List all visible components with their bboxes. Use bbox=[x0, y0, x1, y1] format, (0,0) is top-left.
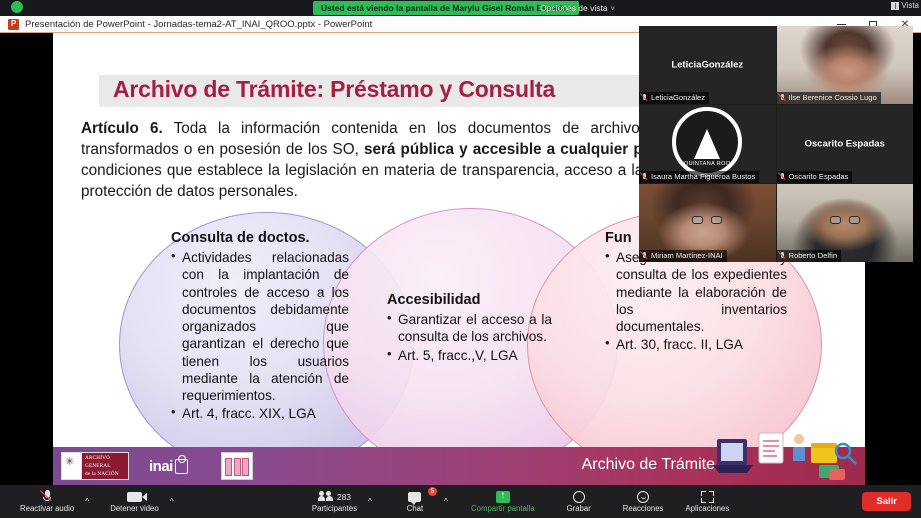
stop-video-button[interactable]: Detener video bbox=[104, 485, 165, 518]
agn-logo-text: ARCHIVO GENERAL de la NACIÓN bbox=[82, 453, 128, 479]
archive-boxes-logo bbox=[221, 452, 253, 480]
apps-button[interactable]: Aplicaciones bbox=[679, 485, 735, 518]
slide-title: Archivo de Trámite: Préstamo y Consulta bbox=[113, 76, 713, 103]
reactions-icon bbox=[637, 490, 649, 503]
participant-name-tag: Isaura Martha Figueroa Bustos bbox=[639, 171, 759, 183]
microphone-muted-icon bbox=[41, 490, 53, 503]
participant-name: Oscarito Espadas bbox=[789, 171, 849, 183]
chat-icon bbox=[408, 490, 421, 503]
mic-muted-icon bbox=[779, 173, 786, 182]
participant-name-tag: Roberto Delfin bbox=[777, 250, 842, 262]
video-tile-isaura-martha-figueroa-bustos[interactable]: QUINTANA ROO Isaura Martha Figueroa Bust… bbox=[639, 105, 776, 183]
reactions-label: Reacciones bbox=[623, 504, 664, 513]
chevron-up-icon: ^ bbox=[368, 495, 372, 508]
apps-label: Aplicaciones bbox=[685, 504, 729, 513]
list-item: Actividades relacionadas con la implanta… bbox=[171, 249, 349, 404]
slide-footer-bar: ARCHIVO GENERAL de la NACIÓN inai Archiv… bbox=[53, 447, 865, 485]
venn-bullets-consulta: Actividades relacionadas con la implanta… bbox=[171, 249, 349, 423]
participants-button[interactable]: 283 Participantes bbox=[306, 485, 363, 518]
unmute-audio-label: Reactivar audio bbox=[20, 504, 74, 513]
mic-muted-icon bbox=[779, 252, 786, 261]
chat-label: Chat bbox=[407, 504, 423, 513]
powerpoint-title: Presentación de PowerPoint - Jornadas-te… bbox=[25, 19, 372, 30]
participants-icon: 283 bbox=[318, 490, 351, 503]
glasses-detail-icon bbox=[830, 216, 860, 224]
zoom-shared-screen-view: Usted está viendo la pantalla de Marylu … bbox=[0, 0, 921, 518]
vista-indicator[interactable]: Vista bbox=[891, 0, 919, 11]
list-item: Art. 30, fracc. II, LGA bbox=[605, 336, 787, 353]
chat-unread-badge: 5 bbox=[428, 487, 437, 496]
participants-options-caret[interactable]: ^ bbox=[363, 485, 377, 518]
inai-logo-text: inai bbox=[149, 458, 173, 475]
unmute-audio-button[interactable]: Reactivar audio bbox=[14, 485, 80, 518]
seal-emblem-icon bbox=[694, 129, 720, 159]
mic-muted-icon bbox=[779, 94, 786, 103]
agn-line-3: de la NACIÓN bbox=[85, 470, 125, 478]
share-screen-icon bbox=[496, 490, 510, 503]
chevron-up-icon: ^ bbox=[85, 495, 89, 508]
participant-name: LeticiaGonzález bbox=[651, 92, 705, 104]
participant-name-tag: LeticiaGonzález bbox=[639, 92, 709, 104]
participant-name-tag: Miriam Martínez-INAI bbox=[639, 250, 727, 262]
venn-text-accesibilidad: Accesibilidad Garantizar el acceso a la … bbox=[387, 292, 552, 365]
agn-logo: ARCHIVO GENERAL de la NACIÓN bbox=[61, 452, 129, 480]
inai-glyph-icon bbox=[175, 459, 188, 474]
participant-center-name: LeticiaGonzález bbox=[639, 60, 776, 71]
participants-label: Participantes bbox=[312, 504, 357, 513]
grid-view-icon bbox=[891, 2, 899, 10]
venn-bullets-funcion: Asegurar la localización y consulta de l… bbox=[605, 249, 787, 354]
view-options-label: Opciones de vista bbox=[540, 3, 608, 13]
video-tile-roberto-delfin[interactable]: Roberto Delfin bbox=[777, 184, 914, 262]
chat-button[interactable]: 5 Chat bbox=[391, 485, 439, 518]
record-label: Grabar bbox=[567, 504, 591, 513]
camera-icon bbox=[127, 490, 142, 503]
record-button[interactable]: Grabar bbox=[555, 485, 603, 518]
video-gallery-panel[interactable]: LeticiaGonzález LeticiaGonzález Ilse Ber… bbox=[639, 26, 913, 262]
record-icon bbox=[573, 490, 585, 503]
chevron-down-icon: ˅ bbox=[611, 6, 615, 13]
agn-mark-icon bbox=[62, 453, 82, 479]
quintana-roo-seal-avatar: QUINTANA ROO bbox=[672, 107, 742, 177]
video-options-caret[interactable]: ^ bbox=[165, 485, 179, 518]
zoom-top-strip: Usted está viendo la pantalla de Marylu … bbox=[0, 0, 921, 16]
video-tile-miriam-martinez-inai[interactable]: Miriam Martínez-INAI bbox=[639, 184, 776, 262]
chat-options-caret[interactable]: ^ bbox=[439, 485, 453, 518]
apps-icon bbox=[701, 490, 714, 503]
glasses-detail-icon bbox=[692, 216, 722, 224]
participant-name: Isaura Martha Figueroa Bustos bbox=[651, 171, 755, 183]
zoom-meeting-toolbar: Reactivar audio ^ Detener video ^ 283 Pa… bbox=[0, 485, 921, 518]
stop-video-label: Detener video bbox=[110, 504, 159, 513]
venn-heading-accesibilidad: Accesibilidad bbox=[387, 292, 552, 308]
chevron-up-icon: ^ bbox=[170, 495, 174, 508]
venn-heading-consulta: Consulta de doctos. bbox=[171, 230, 349, 246]
list-item: Art. 4, fracc. XIX, LGA bbox=[171, 405, 349, 422]
list-item: Art. 5, fracc.,V, LGA bbox=[387, 347, 552, 364]
video-tile-oscarito-espadas[interactable]: Oscarito Espadas Oscarito Espadas bbox=[777, 105, 914, 183]
share-screen-label: Compartir pantalla bbox=[471, 504, 535, 513]
video-tile-leticia-gonzalez[interactable]: LeticiaGonzález LeticiaGonzález bbox=[639, 26, 776, 104]
list-item: Garantizar el acceso a la consulta de lo… bbox=[387, 311, 552, 346]
inai-logo: inai bbox=[149, 455, 211, 478]
participants-count: 283 bbox=[337, 492, 351, 502]
agn-line-2: GENERAL bbox=[85, 462, 125, 470]
participant-name: Miriam Martínez-INAI bbox=[651, 250, 723, 262]
seal-text: QUINTANA ROO bbox=[676, 161, 738, 167]
agn-line-1: ARCHIVO bbox=[85, 454, 125, 462]
leave-meeting-button[interactable]: Salir bbox=[862, 492, 911, 511]
view-options-button[interactable]: Opciones de vista˅ bbox=[540, 1, 615, 15]
participant-name: Ilse Berenice Cossio Lugo bbox=[789, 92, 877, 104]
participant-center-name: Oscarito Espadas bbox=[777, 139, 914, 150]
mic-muted-icon bbox=[641, 173, 648, 182]
mic-muted-icon bbox=[641, 252, 648, 261]
mic-muted-icon bbox=[641, 94, 648, 103]
participant-name-tag: Oscarito Espadas bbox=[777, 171, 853, 183]
article-lead: Artículo 6. bbox=[81, 120, 163, 137]
footer-illustration bbox=[711, 425, 861, 485]
zoom-app-icon bbox=[10, 0, 24, 16]
participant-name: Roberto Delfin bbox=[789, 250, 838, 262]
audio-options-caret[interactable]: ^ bbox=[80, 485, 94, 518]
reactions-button[interactable]: Reacciones bbox=[617, 485, 670, 518]
chevron-up-icon: ^ bbox=[444, 495, 448, 508]
powerpoint-icon bbox=[8, 19, 19, 30]
share-screen-button[interactable]: Compartir pantalla bbox=[465, 485, 541, 518]
video-tile-ilse-berenice-cossio-lugo[interactable]: Ilse Berenice Cossio Lugo bbox=[777, 26, 914, 104]
vista-label: Vista bbox=[901, 0, 919, 11]
venn-bullets-accesibilidad: Garantizar el acceso a la consulta de lo… bbox=[387, 311, 552, 364]
participant-name-tag: Ilse Berenice Cossio Lugo bbox=[777, 92, 881, 104]
footer-label: Archivo de Trámite bbox=[582, 456, 715, 474]
venn-text-consulta: Consulta de doctos. Actividades relacion… bbox=[171, 230, 349, 424]
